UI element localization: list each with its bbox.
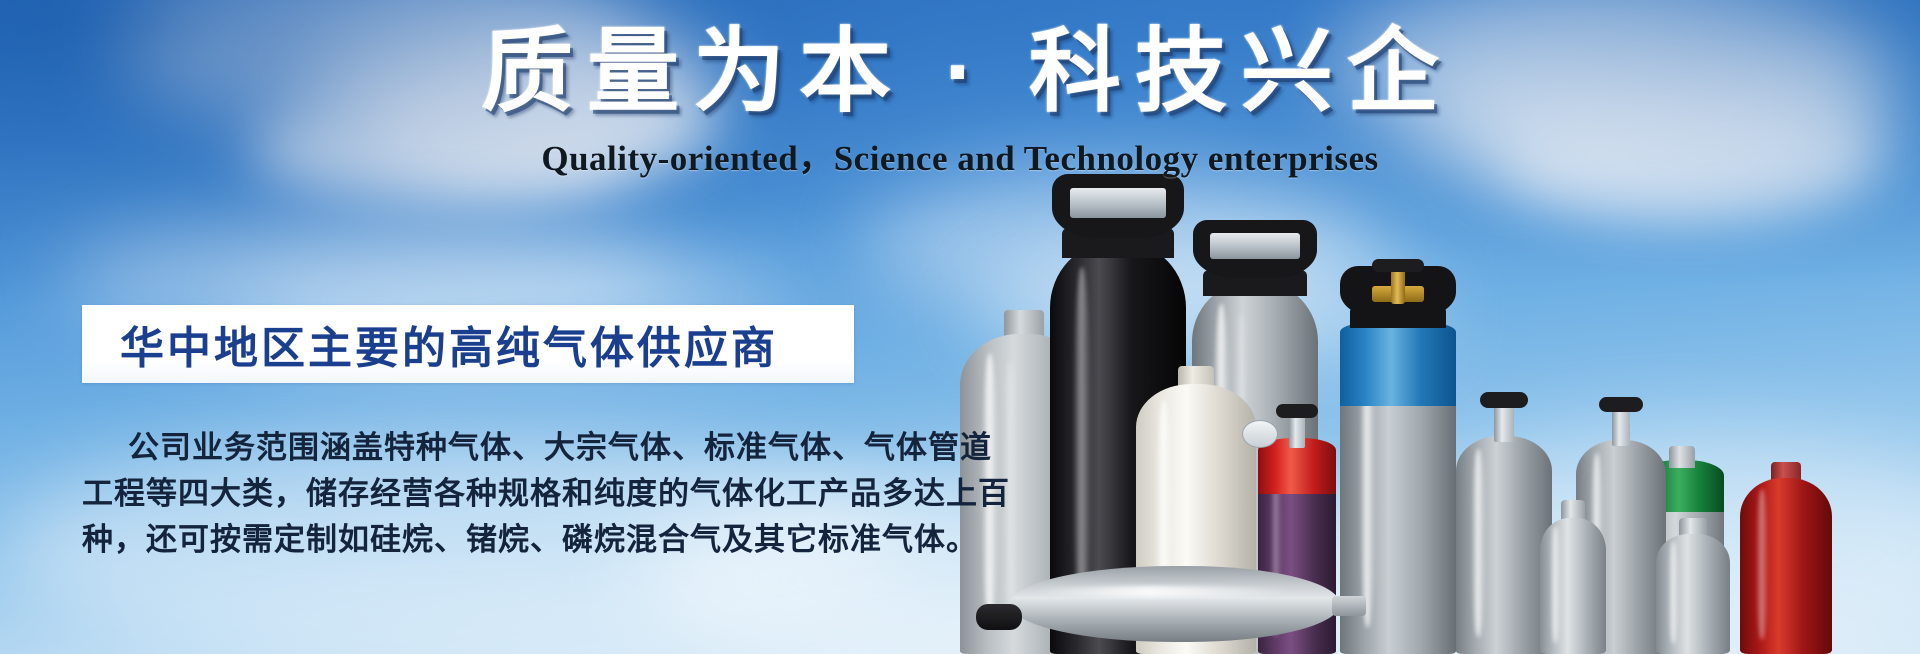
promotional-banner: 质量为本 · 科技兴企 Quality-oriented，Science and… <box>0 0 1920 654</box>
valve-handwheel-icon <box>1480 392 1528 408</box>
cylinder-blue-brass-valve <box>1340 258 1456 654</box>
pressure-gauge-icon <box>1242 420 1278 448</box>
highlight-box: 华中地区主要的高纯气体供应商 <box>82 305 854 383</box>
paragraph-line: 公司业务范围涵盖特种气体、大宗气体、标准气体、气体管道 <box>82 425 882 471</box>
cylinder-body <box>1540 518 1606 654</box>
paragraph-line: 工程等四大类，储存经营各种规格和纯度的气体化工产品多达上百 <box>82 471 882 517</box>
cylinder-highlight <box>1030 586 1294 597</box>
cylinder-valve-stem <box>1612 406 1630 446</box>
paragraph-line: 种，还可按需定制如硅烷、锗烷、磷烷混合气及其它标准气体。 <box>82 517 882 563</box>
cylinder-blue-band <box>1340 320 1456 406</box>
highlight-text: 华中地区主要的高纯气体供应商 <box>82 312 778 376</box>
cylinder-valve-cap <box>1193 220 1317 278</box>
cylinder-body <box>1656 534 1730 654</box>
cylinder-valve-stem <box>1494 402 1514 442</box>
headline-block: 质量为本 · 科技兴企 Quality-oriented，Science and… <box>0 16 1920 181</box>
cylinder-aluminium-small <box>1540 502 1606 654</box>
brass-valve-stem-icon <box>1391 270 1405 304</box>
cylinder-highlight <box>1756 489 1768 640</box>
cylinder-body <box>1740 478 1832 654</box>
cylinder-grey-mid <box>1456 386 1552 654</box>
cylinder-valve-cap <box>1052 174 1184 238</box>
cylinder-body <box>1456 436 1552 654</box>
cylinder-red-right <box>1740 464 1832 654</box>
cylinder-aluminium-small-right <box>1656 518 1730 654</box>
cylinder-lying-horizontal <box>1010 566 1340 642</box>
valve-handwheel-icon <box>1276 404 1318 418</box>
cylinder-highlight <box>1669 541 1679 644</box>
cylinder-highlight <box>1073 267 1091 621</box>
cylinder-highlight <box>1551 526 1560 643</box>
valve-handwheel-icon <box>1599 397 1643 412</box>
cylinder-neck <box>1669 446 1695 468</box>
cylinder-highlight <box>1472 449 1484 636</box>
lying-tank-neck-icon <box>1332 596 1366 616</box>
headline-english: Quality-oriented，Science and Technology … <box>0 130 1920 181</box>
valve-handwheel-icon <box>1372 259 1424 272</box>
headline-chinese: 质量为本 · 科技兴企 <box>0 16 1920 128</box>
description-paragraph: 公司业务范围涵盖特种气体、大宗气体、标准气体、气体管道 工程等四大类，储存经营各… <box>82 425 882 563</box>
lying-tank-valve-icon <box>976 604 1022 630</box>
